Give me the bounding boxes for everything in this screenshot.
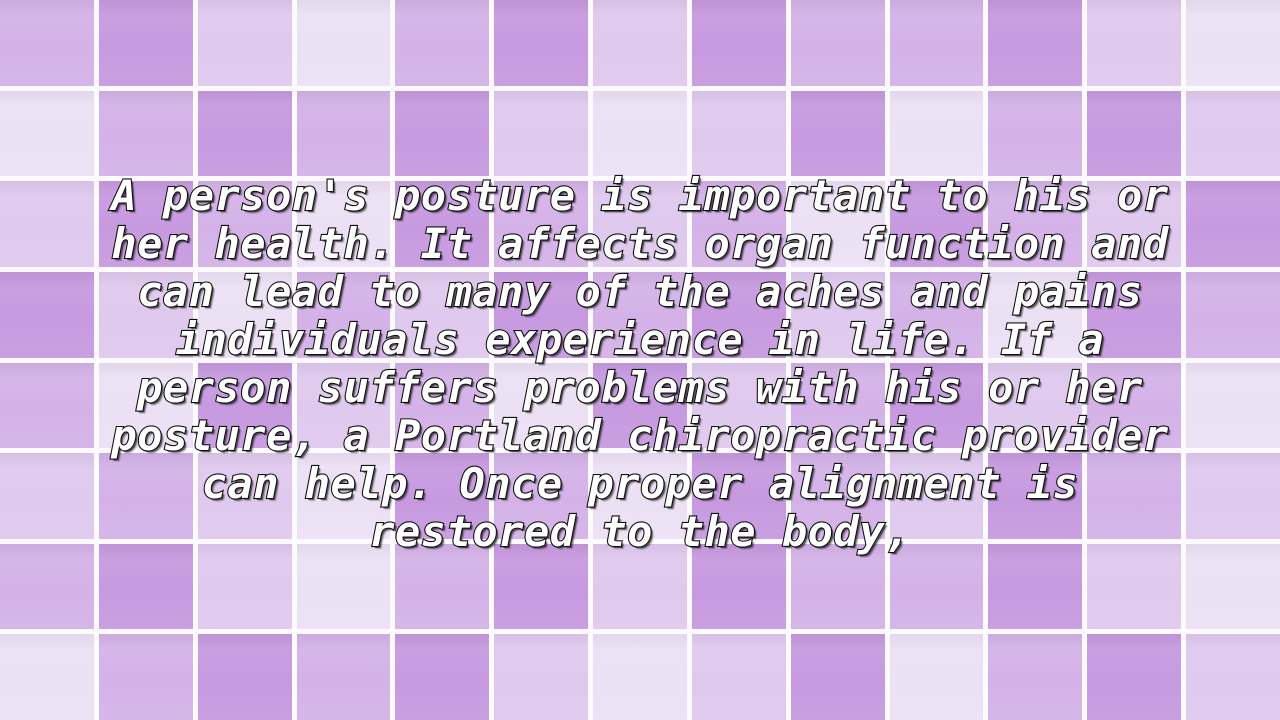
mosaic-tile	[0, 544, 94, 630]
mosaic-tile	[99, 272, 193, 358]
mosaic-tile	[494, 0, 588, 86]
mosaic-tile	[791, 634, 885, 720]
mosaic-tile	[1087, 453, 1181, 539]
mosaic-tile	[494, 453, 588, 539]
mosaic-tile	[988, 363, 1082, 449]
mosaic-tile	[1087, 0, 1181, 86]
mosaic-tile	[988, 181, 1082, 267]
mosaic-tile	[395, 634, 489, 720]
mosaic-tile	[395, 544, 489, 630]
mosaic-tile	[297, 544, 391, 630]
mosaic-tile	[395, 363, 489, 449]
mosaic-tile	[692, 544, 786, 630]
mosaic-tile	[1087, 634, 1181, 720]
mosaic-tile	[692, 453, 786, 539]
mosaic-tile	[1186, 0, 1280, 86]
mosaic-tile	[791, 91, 885, 177]
mosaic-tile	[0, 91, 94, 177]
mosaic-tile	[1186, 634, 1280, 720]
mosaic-tile	[395, 453, 489, 539]
mosaic-tile	[890, 453, 984, 539]
mosaic-tile	[890, 0, 984, 86]
mosaic-tile	[593, 0, 687, 86]
mosaic-tile	[692, 91, 786, 177]
mosaic-tile	[99, 91, 193, 177]
mosaic-tile	[791, 272, 885, 358]
mosaic-tile	[0, 363, 94, 449]
mosaic-tile	[988, 544, 1082, 630]
mosaic-tile	[890, 363, 984, 449]
mosaic-tile	[99, 0, 193, 86]
mosaic-tile	[198, 91, 292, 177]
mosaic-tile	[395, 181, 489, 267]
mosaic-tile	[198, 363, 292, 449]
mosaic-tile	[198, 453, 292, 539]
mosaic-tile	[0, 272, 94, 358]
mosaic-tile	[0, 0, 94, 86]
mosaic-tile	[988, 0, 1082, 86]
mosaic-tile	[1186, 363, 1280, 449]
mosaic-tile	[198, 272, 292, 358]
mosaic-tile	[0, 453, 94, 539]
mosaic-tile	[791, 453, 885, 539]
mosaic-tile	[198, 544, 292, 630]
mosaic-tile	[593, 634, 687, 720]
mosaic-tile	[297, 181, 391, 267]
mosaic-tile	[297, 0, 391, 86]
mosaic-tile	[99, 453, 193, 539]
mosaic-tile	[99, 363, 193, 449]
mosaic-tile	[198, 634, 292, 720]
mosaic-tile	[1087, 363, 1181, 449]
mosaic-tile	[297, 363, 391, 449]
mosaic-tile	[988, 272, 1082, 358]
mosaic-tile	[198, 181, 292, 267]
mosaic-tile	[593, 181, 687, 267]
mosaic-tile	[692, 0, 786, 86]
mosaic-tile	[395, 272, 489, 358]
mosaic-tile	[1186, 544, 1280, 630]
mosaic-tile	[593, 272, 687, 358]
mosaic-tile	[791, 363, 885, 449]
mosaic-tile	[395, 0, 489, 86]
mosaic-tile	[297, 91, 391, 177]
mosaic-tile	[890, 544, 984, 630]
mosaic-tile	[1186, 91, 1280, 177]
mosaic-tile	[1087, 91, 1181, 177]
mosaic-tile	[297, 453, 391, 539]
mosaic-tile	[1087, 181, 1181, 267]
mosaic-tile	[1186, 453, 1280, 539]
mosaic-tile	[494, 272, 588, 358]
mosaic-tile	[692, 181, 786, 267]
mosaic-tile	[99, 181, 193, 267]
mosaic-tile	[297, 634, 391, 720]
mosaic-tile	[494, 181, 588, 267]
mosaic-tile	[395, 91, 489, 177]
mosaic-tile	[99, 544, 193, 630]
mosaic-tile	[1087, 272, 1181, 358]
mosaic-tile	[890, 634, 984, 720]
mosaic-tile	[1087, 544, 1181, 630]
mosaic-tile	[0, 634, 94, 720]
mosaic-tile	[99, 634, 193, 720]
mosaic-tile	[791, 0, 885, 86]
mosaic-tile	[1186, 181, 1280, 267]
mosaic-tile	[791, 544, 885, 630]
mosaic-tile	[593, 363, 687, 449]
mosaic-tile	[1186, 272, 1280, 358]
mosaic-tile	[692, 272, 786, 358]
quote-card: A person's posture is important to his o…	[0, 0, 1280, 720]
mosaic-tile	[494, 91, 588, 177]
mosaic-tile	[0, 181, 94, 267]
mosaic-tile	[593, 91, 687, 177]
mosaic-tile	[198, 0, 292, 86]
mosaic-tile	[692, 634, 786, 720]
mosaic-tile	[297, 272, 391, 358]
mosaic-tile	[494, 634, 588, 720]
mosaic-tile	[988, 91, 1082, 177]
mosaic-tile	[890, 181, 984, 267]
mosaic-tile	[988, 634, 1082, 720]
mosaic-tile	[890, 91, 984, 177]
mosaic-tile	[692, 363, 786, 449]
mosaic-tile	[494, 544, 588, 630]
mosaic-tile	[593, 453, 687, 539]
mosaic-tile	[494, 363, 588, 449]
mosaic-tile	[791, 181, 885, 267]
mosaic-tile	[890, 272, 984, 358]
mosaic-tile	[988, 453, 1082, 539]
tile-mosaic-background	[0, 0, 1280, 720]
mosaic-tile	[593, 544, 687, 630]
